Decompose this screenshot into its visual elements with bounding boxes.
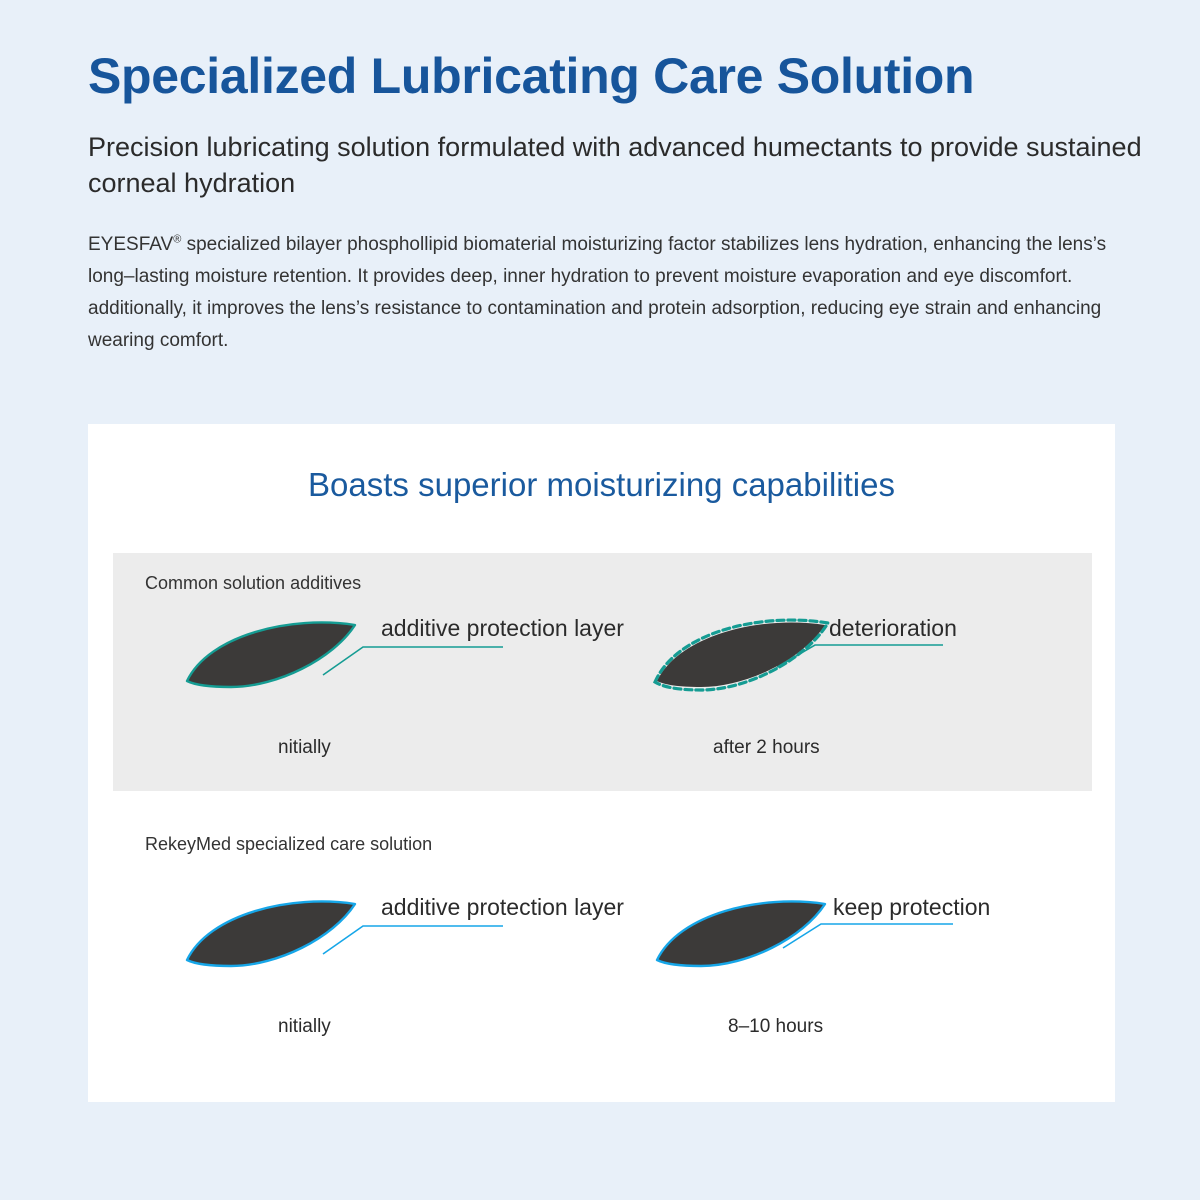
card-heading: Boasts superior moisturizing capabilitie… — [88, 466, 1115, 504]
caption-common-initial: nitially — [278, 737, 331, 759]
panel-common-solution-additives: Common solution additives additive prote… — [113, 553, 1092, 791]
figure-rekey-8-10-hours: keep protection 8–10 hours — [643, 894, 1073, 1054]
lens-shape-common-initial — [187, 622, 355, 687]
figure-common-initial: additive protection layer nitially — [173, 615, 603, 775]
panel-label-common: Common solution additives — [145, 573, 361, 594]
page-subtitle: Precision lubricating solution formulate… — [88, 130, 1148, 201]
page-header: Specialized Lubricating Care Solution Pr… — [88, 48, 1148, 357]
brand-name: EYESFAV — [88, 234, 173, 255]
callout-rekey-initial: additive protection layer — [381, 894, 624, 921]
page-body-paragraph: EYESFAV® specialized bilayer phosphollip… — [88, 229, 1128, 357]
callout-common-deterioration: deterioration — [829, 615, 957, 642]
caption-rekey-8-10-hours: 8–10 hours — [728, 1016, 823, 1038]
leader-line-icon — [323, 647, 503, 675]
comparison-card: Boasts superior moisturizing capabilitie… — [88, 424, 1115, 1102]
figure-rekey-initial: additive protection layer nitially — [173, 894, 603, 1054]
caption-common-after-2-hours: after 2 hours — [713, 737, 820, 759]
panel-label-rekeymed: RekeyMed specialized care solution — [145, 834, 432, 855]
leader-line-icon — [323, 926, 503, 954]
body-text: specialized bilayer phosphollipid biomat… — [88, 234, 1106, 351]
figure-common-after-2-hours: deterioration after 2 hours — [643, 615, 1073, 775]
callout-common-initial: additive protection layer — [381, 615, 624, 642]
caption-rekey-initial: nitially — [278, 1016, 331, 1038]
lens-shape-rekey-initial — [187, 901, 355, 966]
panel-rekeymed-care-solution: RekeyMed specialized care solution addit… — [113, 806, 1092, 1086]
lens-shape-rekey-keep-protection — [657, 901, 825, 966]
leader-line-icon — [783, 924, 953, 948]
callout-rekey-keep-protection: keep protection — [833, 894, 990, 921]
page-title: Specialized Lubricating Care Solution — [88, 48, 1148, 104]
